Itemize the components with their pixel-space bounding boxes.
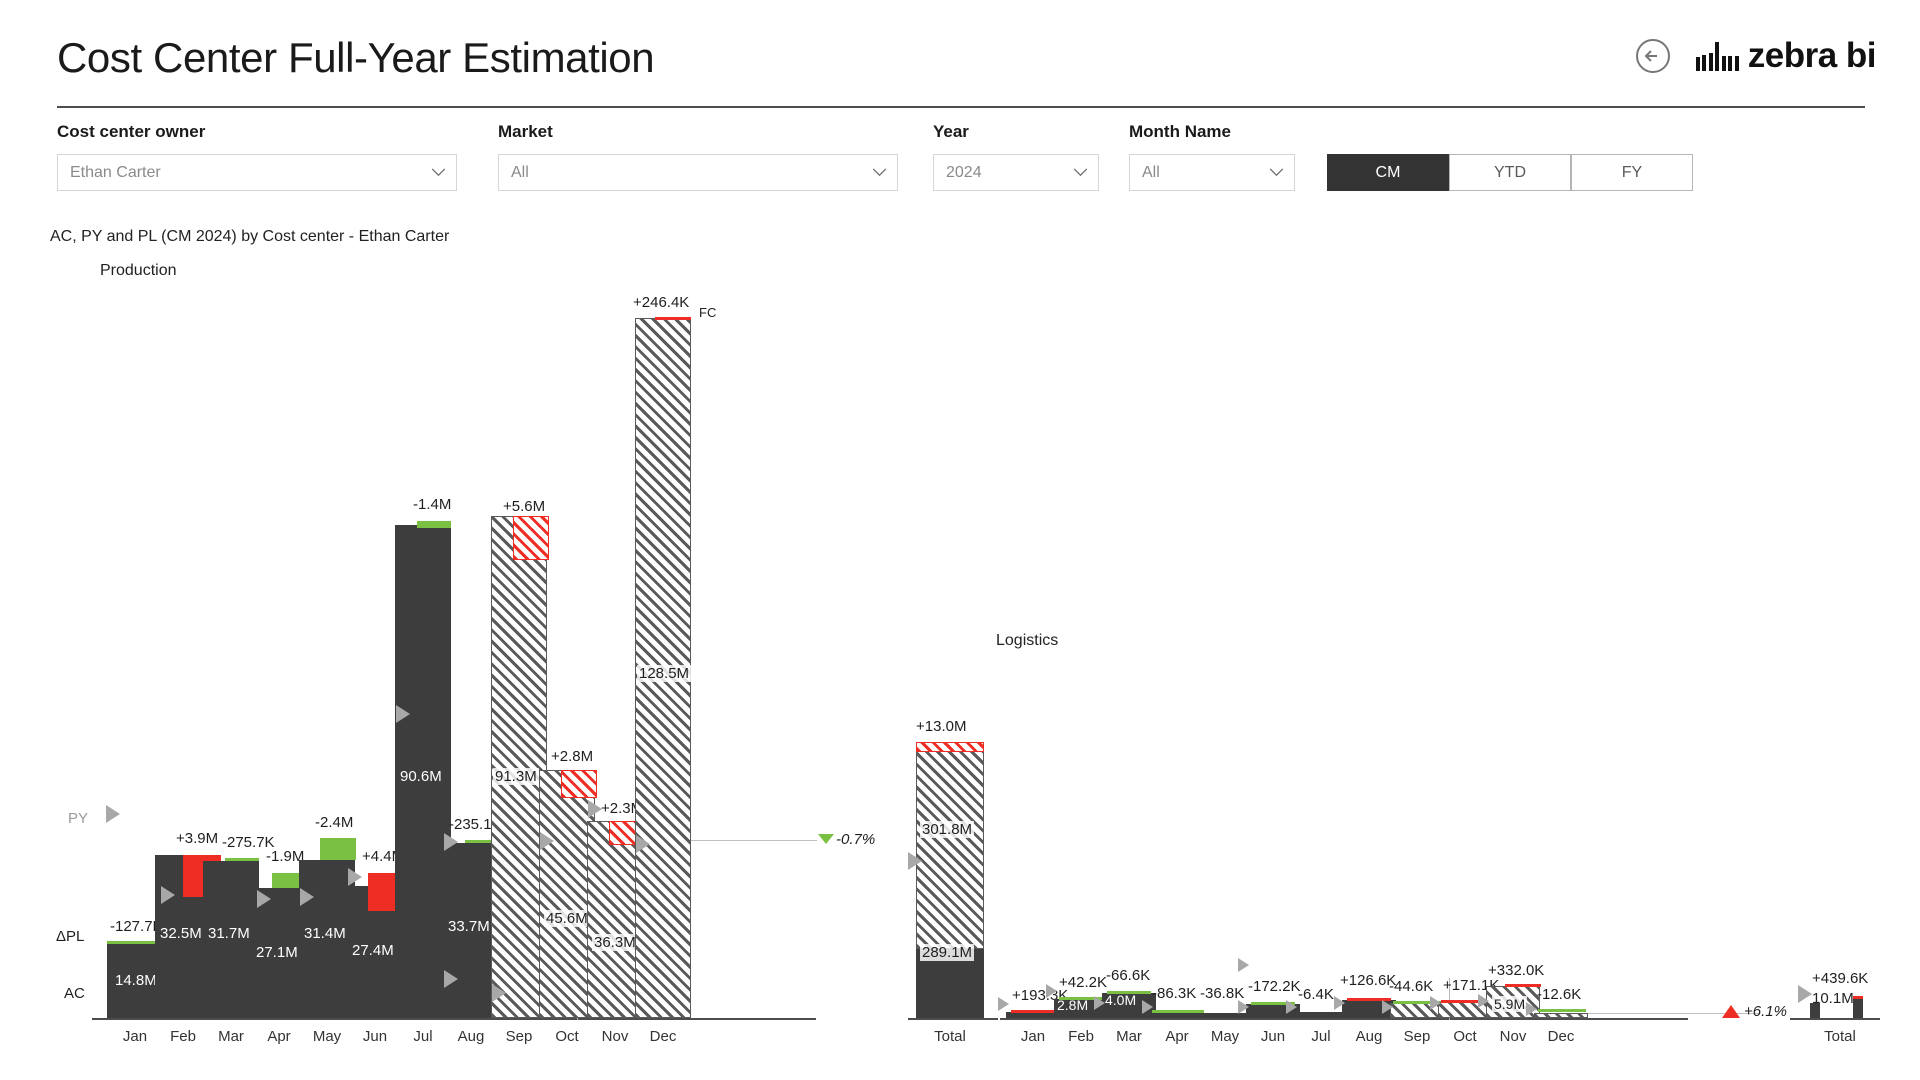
value-label-total-actual: 289.1M	[920, 944, 974, 961]
bar-r-jul[interactable]	[1294, 1012, 1348, 1018]
variance-label-r-jun: -172.2K	[1248, 978, 1301, 995]
bar-total-forecast[interactable]	[916, 742, 984, 949]
category-label-total-left: Total	[916, 1028, 984, 1045]
variance-label-r-sep: -44.6K	[1389, 978, 1433, 995]
total-variance-pct-right: +6.1%	[1744, 1003, 1787, 1020]
bar-r-apr[interactable]	[1150, 1013, 1204, 1018]
category-label-r-oct: Oct	[1438, 1028, 1492, 1045]
py-marker-r-apr	[1142, 1000, 1153, 1014]
py-marker-r-jan	[998, 997, 1009, 1011]
py-marker-r-jun	[1238, 1000, 1249, 1014]
variance-cap-r-nov	[1505, 984, 1541, 987]
py-marker-r-dec	[1526, 1002, 1537, 1016]
variance-cap-r-jan	[1011, 1010, 1055, 1013]
category-label-r-may: May	[1198, 1028, 1252, 1045]
variance-label-r-mar: -66.6K	[1106, 967, 1150, 984]
variance-cap-r-dec	[1538, 1009, 1586, 1012]
right-total2-axis	[1790, 1018, 1880, 1020]
bar-r-dec[interactable]	[1534, 1013, 1588, 1018]
variance-cap-r-apr	[1152, 1010, 1204, 1013]
report-page: Cost Center Full-Year Estimation zebra b…	[0, 0, 1920, 1080]
category-label-r-dec: Dec	[1534, 1028, 1588, 1045]
variance-label-r-dec: -12.6K	[1537, 986, 1581, 1003]
value-label-total-forecast: 301.8M	[920, 821, 974, 838]
category-label-r-nov: Nov	[1486, 1028, 1540, 1045]
value-label-r-nov: 5.9M	[1492, 996, 1527, 1012]
py-marker-r-oct	[1430, 996, 1441, 1010]
value-label-r-feb: 2.8M	[1057, 997, 1088, 1013]
py-marker-r-sep	[1382, 1000, 1393, 1014]
variance-label-r-nov: +332.0K	[1488, 962, 1544, 979]
variance-label-r-apr: -86.3K	[1152, 985, 1196, 1002]
py-marker-total-right	[1798, 985, 1812, 1003]
category-label-r-jan: Jan	[1006, 1028, 1060, 1045]
right-total-axis	[908, 1018, 998, 1020]
variance-label-r-aug: +126.6K	[1340, 972, 1396, 989]
value-label-total-right: 10.1M	[1812, 990, 1854, 1007]
variance-label-r-jul: -6.4K	[1298, 986, 1334, 1003]
py-marker-total-left	[908, 852, 922, 870]
category-label-r-apr: Apr	[1150, 1028, 1204, 1045]
py-marker-r-mar	[1094, 996, 1105, 1010]
category-label-r-jul: Jul	[1294, 1028, 1348, 1045]
py-marker-r-aug	[1334, 996, 1345, 1010]
category-label-r-feb: Feb	[1054, 1028, 1108, 1045]
py-marker-r-nov	[1478, 994, 1489, 1008]
py-marker-r-feb	[1046, 984, 1057, 998]
py-marker-r-jul	[1286, 1000, 1297, 1014]
variance-label-r-feb: +42.2K	[1059, 974, 1107, 991]
logistics-chart: 301.8M 289.1M +13.0M Total +193.3K Jan 2…	[0, 0, 1920, 1080]
category-label-r-aug: Aug	[1342, 1028, 1396, 1045]
category-label-r-sep: Sep	[1390, 1028, 1444, 1045]
variance-label-total-left: +13.0M	[916, 718, 966, 735]
variance-cap-total-left	[916, 742, 984, 752]
bar-total-right-b[interactable]	[1853, 998, 1863, 1018]
variance-label-total-right: +439.6K	[1812, 970, 1868, 987]
right-months-axis	[1000, 1018, 1688, 1020]
category-label-r-mar: Mar	[1102, 1028, 1156, 1045]
variance-cap-total-right	[1853, 996, 1863, 999]
total-variance-marker-right	[1722, 1005, 1740, 1018]
py-marker-r-may	[1238, 958, 1249, 972]
value-label-r-mar: 4.0M	[1105, 992, 1136, 1008]
category-label-total-right: Total	[1800, 1028, 1880, 1045]
category-label-r-jun: Jun	[1246, 1028, 1300, 1045]
